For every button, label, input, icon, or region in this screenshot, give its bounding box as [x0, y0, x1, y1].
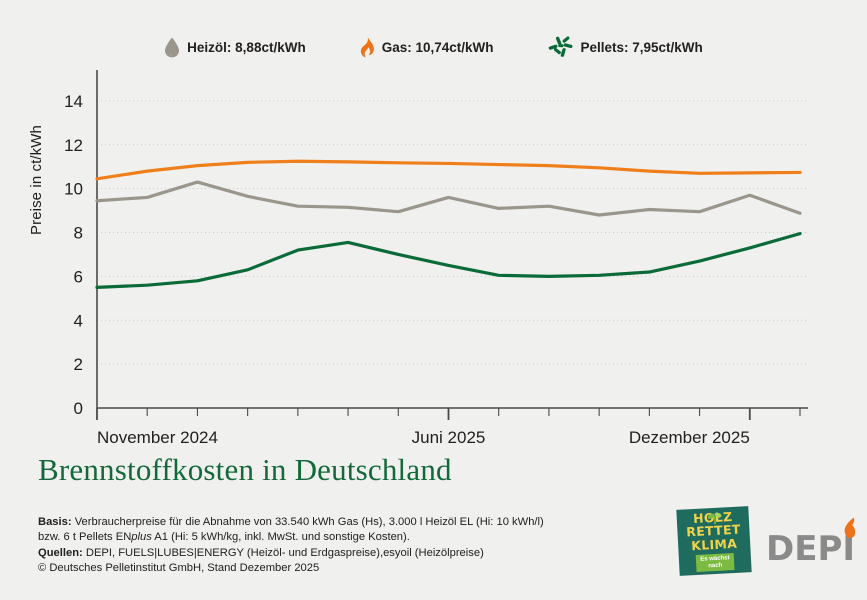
- footnote-basis-text: Verbraucherpreise für die Abnahme von 33…: [72, 516, 544, 528]
- logo-group: HOLZ RETTET KLIMA Es wächst nach DEPI: [678, 508, 856, 574]
- footnote-basis-line2: bzw. 6 t Pellets ENplus A1 (Hi: 5 kWh/kg…: [38, 530, 658, 545]
- footnote-basis-label: Basis:: [38, 516, 72, 528]
- line-chart: 02468101214November 2024Juni 2025Dezembe…: [0, 60, 867, 460]
- footnote-basis: Basis: Verbraucherpreise für die Abnahme…: [38, 515, 658, 530]
- series-line-gas: [97, 161, 800, 179]
- gas-flame-icon: [360, 37, 375, 58]
- legend-label-heizoel: Heizöl: 8,88ct/kWh: [187, 40, 306, 55]
- footnote-quellen: Quellen: DEPI, FUELS|LUBES|ENERGY (Heizö…: [38, 546, 658, 561]
- holz-logo-sub2: nach: [708, 562, 722, 569]
- footnote-block: Basis: Verbraucherpreise für die Abnahme…: [38, 515, 658, 576]
- footnote-quellen-label: Quellen:: [38, 547, 83, 559]
- legend-item-pellets: Pellets: 7,95ct/kWh: [548, 36, 703, 58]
- y-axis-label: Preise in ct/kWh: [28, 125, 45, 235]
- y-tick-label: 4: [74, 311, 83, 330]
- holz-rettet-klima-logo: HOLZ RETTET KLIMA Es wächst nach: [676, 506, 751, 576]
- y-tick-label: 2: [74, 355, 83, 374]
- footnote-copyright: © Deutsches Pelletinstitut GmbH, Stand D…: [38, 561, 658, 576]
- legend-label-gas: Gas: 10,74ct/kWh: [382, 40, 494, 55]
- y-tick-label: 12: [64, 136, 83, 155]
- legend-item-heizoel: Heizöl: 8,88ct/kWh: [164, 37, 306, 58]
- x-tick-label: Juni 2025: [412, 428, 486, 447]
- chart-legend: Heizöl: 8,88ct/kWh Gas: 10,74ct/kWh: [0, 36, 867, 58]
- y-tick-label: 0: [74, 399, 83, 418]
- footnote-basis-text-2a: bzw. 6 t Pellets EN: [38, 531, 131, 543]
- legend-label-pellets: Pellets: 7,95ct/kWh: [581, 40, 703, 55]
- x-tick-label: Dezember 2025: [629, 428, 750, 447]
- depi-flame-icon: [842, 517, 856, 544]
- y-tick-label: 14: [64, 92, 83, 111]
- sprout-icon: [706, 511, 723, 531]
- page-title: Brennstoffkosten in Deutschland: [38, 452, 452, 488]
- footnote-basis-text-plus: plus: [131, 531, 152, 543]
- footnote-basis-text-2c: A1 (Hi: 5 kWh/kg, inkl. MwSt. und sonsti…: [152, 531, 410, 543]
- y-tick-label: 8: [74, 224, 83, 243]
- oil-drop-icon: [164, 37, 180, 58]
- legend-item-gas: Gas: 10,74ct/kWh: [360, 37, 494, 58]
- depi-logo: DEPI: [766, 517, 856, 566]
- holz-logo-sub: Es wächst nach: [696, 553, 734, 572]
- chart-plot-area: Preise in ct/kWh 02468101214November 202…: [0, 60, 867, 420]
- pellets-icon: [548, 36, 574, 58]
- series-line-pellets: [97, 234, 800, 288]
- footnote-quellen-text: DEPI, FUELS|LUBES|ENERGY (Heizöl- und Er…: [83, 547, 484, 559]
- y-tick-label: 6: [74, 267, 83, 286]
- series-line-heizöl: [97, 182, 800, 215]
- holz-logo-line3: KLIMA: [691, 537, 738, 553]
- holz-logo-sub1: Es wächst: [700, 555, 730, 563]
- y-tick-label: 10: [64, 180, 83, 199]
- x-tick-label: November 2024: [97, 428, 218, 447]
